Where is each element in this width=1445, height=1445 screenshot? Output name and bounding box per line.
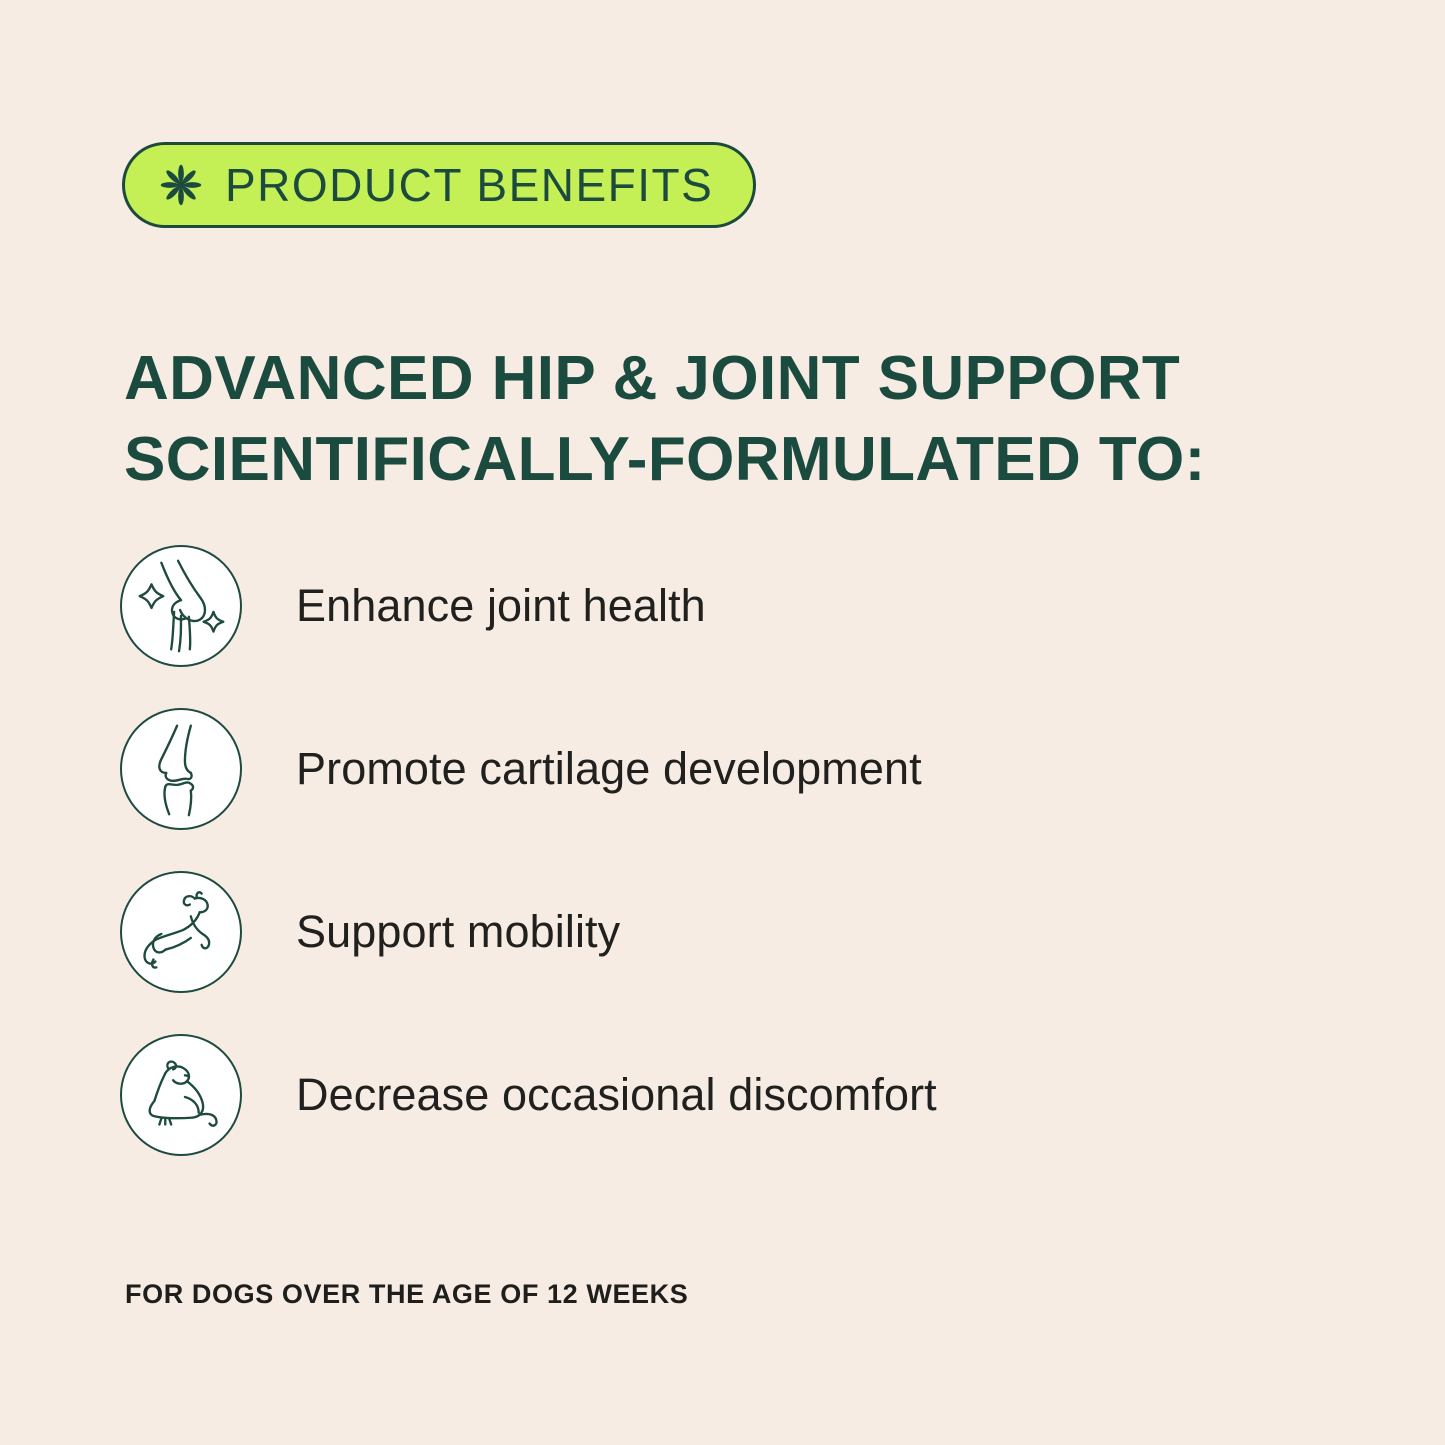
- benefit-label: Support mobility: [296, 907, 620, 957]
- page-title: ADVANCED HIP & JOINT SUPPORT SCIENTIFICA…: [124, 338, 1324, 502]
- benefit-item: Decrease occasional discomfort: [120, 1034, 1320, 1156]
- benefit-label: Promote cartilage development: [296, 744, 922, 794]
- joint-sparkle-icon: [120, 545, 242, 667]
- asterisk-sparkle-icon: [159, 163, 203, 207]
- product-benefits-badge: PRODUCT BENEFITS: [122, 142, 756, 228]
- benefit-label: Decrease occasional discomfort: [296, 1070, 937, 1120]
- headline-line-1: ADVANCED HIP & JOINT SUPPORT: [124, 338, 1324, 420]
- cartilage-joint-icon: [120, 708, 242, 830]
- benefits-list: Enhance joint health: [120, 545, 1320, 1197]
- benefit-label: Enhance joint health: [296, 581, 706, 631]
- age-requirement-note: FOR DOGS OVER THE AGE OF 12 WEEKS: [125, 1281, 688, 1308]
- headline-line-2: SCIENTIFICALLY-FORMULATED TO:: [124, 419, 1324, 501]
- benefit-item: Enhance joint health: [120, 545, 1320, 667]
- resting-dog-icon: [120, 1034, 242, 1156]
- benefit-item: Promote cartilage development: [120, 708, 1320, 830]
- benefit-item: Support mobility: [120, 871, 1320, 993]
- leaping-dog-icon: [120, 871, 242, 993]
- badge-label: PRODUCT BENEFITS: [225, 162, 713, 208]
- product-benefits-infographic: PRODUCT BENEFITS ADVANCED HIP & JOINT SU…: [0, 0, 1445, 1445]
